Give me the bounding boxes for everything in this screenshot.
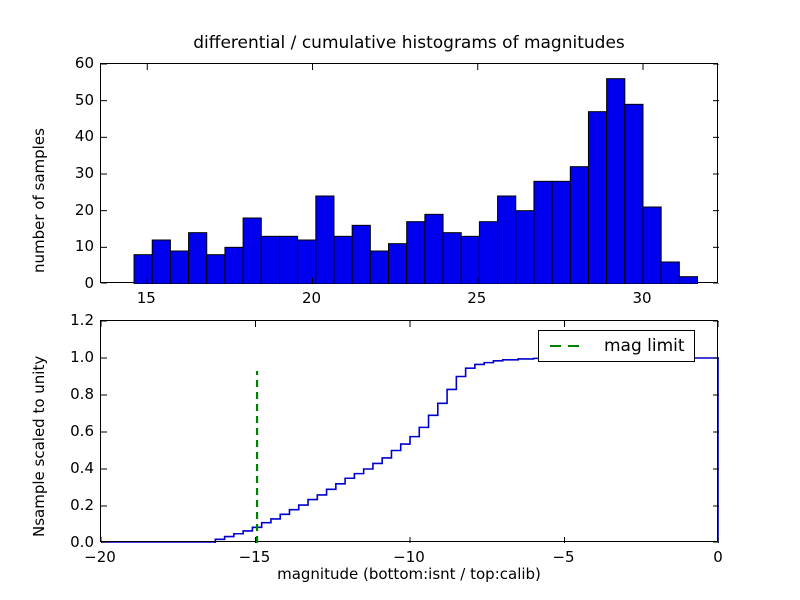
histogram-bar <box>643 207 661 284</box>
figure-canvas: differential / cumulative histograms of … <box>0 0 800 600</box>
legend-box: mag limit <box>538 330 695 362</box>
histogram-bar <box>461 236 479 284</box>
top-y-tick-label: 40 <box>54 127 94 145</box>
bottom-y-tick-label: 1.2 <box>48 311 94 329</box>
bottom-y-axis-label: Nsample scaled to unity <box>30 356 48 537</box>
histogram-bar <box>370 251 388 284</box>
histogram-bar <box>243 218 261 284</box>
histogram-bar <box>552 181 570 284</box>
histogram-bar <box>134 255 152 284</box>
bottom-y-tick-label: 0.2 <box>48 496 94 514</box>
histogram-bar <box>352 225 370 284</box>
bottom-x-axis-label: magnitude (bottom:isnt / top:calib) <box>100 565 718 583</box>
histogram-bar <box>498 196 516 284</box>
histogram-bar <box>189 233 207 284</box>
histogram-bar <box>570 167 588 284</box>
histogram-bar <box>225 247 243 284</box>
histogram-bar <box>679 277 697 284</box>
histogram-bar <box>389 244 407 284</box>
top-y-axis-label: number of samples <box>30 128 48 273</box>
bottom-y-tick-label: 0.4 <box>48 459 94 477</box>
histogram-bar <box>279 236 297 284</box>
top-x-tick-label: 15 <box>137 289 156 307</box>
histogram-bar <box>625 104 643 284</box>
bottom-y-tick-label: 0.6 <box>48 422 94 440</box>
histogram-bar <box>425 214 443 284</box>
histogram-bar <box>207 255 225 284</box>
top-y-tick-label: 30 <box>54 164 94 182</box>
histogram-bar <box>298 240 316 284</box>
bottom-x-tick-label: −15 <box>239 548 271 566</box>
histogram-bar <box>316 196 334 284</box>
top-y-tick-label: 60 <box>54 54 94 72</box>
histogram-bar <box>170 251 188 284</box>
bottom-x-tick-label: −10 <box>393 548 425 566</box>
top-y-tick-label: 20 <box>54 201 94 219</box>
differential-histogram-axes <box>100 63 718 283</box>
histogram-bar <box>261 236 279 284</box>
histogram-bar <box>443 233 461 284</box>
top-y-tick-label: 0 <box>54 274 94 292</box>
histogram-bar <box>152 240 170 284</box>
bottom-y-tick-label: 1.0 <box>48 348 94 366</box>
legend-entry-label: mag limit <box>604 336 685 356</box>
histogram-bar <box>334 236 352 284</box>
top-x-tick-label: 30 <box>632 289 651 307</box>
histogram-bar <box>407 222 425 284</box>
bottom-y-tick-label: 0.8 <box>48 385 94 403</box>
top-x-tick-label: 25 <box>467 289 486 307</box>
bottom-x-tick-label: −5 <box>552 548 574 566</box>
differential-histogram-plot <box>101 64 719 284</box>
chart-title: differential / cumulative histograms of … <box>100 33 718 53</box>
histogram-bar <box>516 211 534 284</box>
top-y-tick-label: 10 <box>54 237 94 255</box>
histogram-bar <box>588 112 606 284</box>
histogram-bar <box>479 222 497 284</box>
top-y-tick-label: 50 <box>54 91 94 109</box>
histogram-bar <box>607 79 625 284</box>
histogram-bar <box>661 262 679 284</box>
mag-limit-line-icon <box>548 345 588 347</box>
bottom-x-tick-label: −20 <box>84 548 116 566</box>
histogram-bar <box>534 181 552 284</box>
bottom-x-tick-label: 0 <box>713 548 723 566</box>
top-x-tick-label: 20 <box>302 289 321 307</box>
cumulative-curve <box>101 358 719 543</box>
